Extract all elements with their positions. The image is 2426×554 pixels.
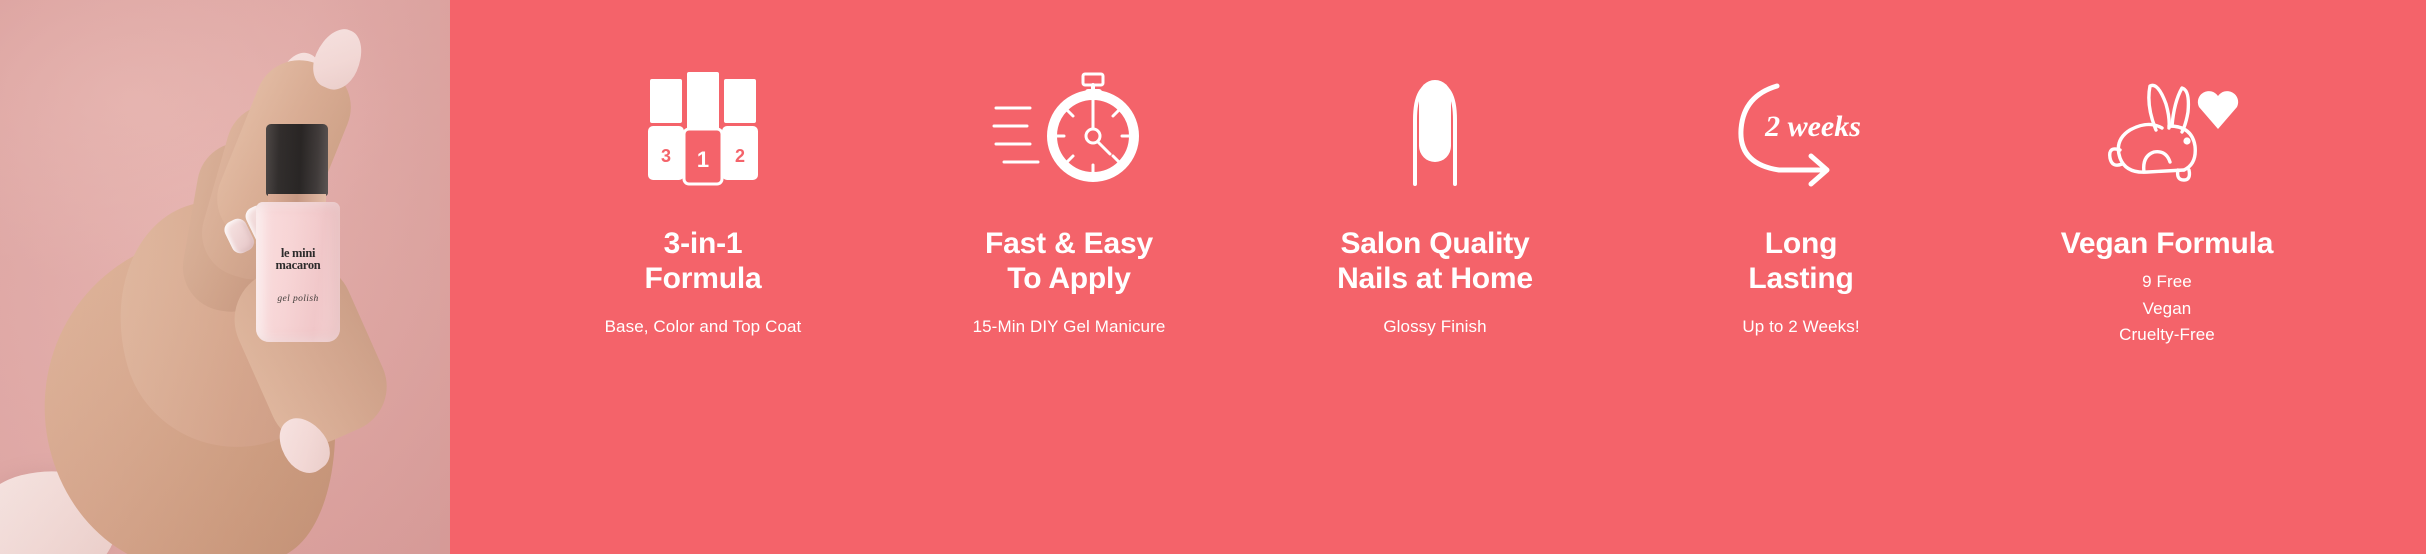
bottle-number-2: 2 [735, 146, 745, 166]
feature-salon-quality: Salon Quality Nails at Home Glossy Finis… [1252, 72, 1618, 339]
feature-vegan-formula: Vegan Formula 9 Free Vegan Cruelty-Free [1984, 72, 2350, 348]
feature-subtitle: 9 Free Vegan Cruelty-Free [2119, 269, 2215, 348]
bottle-number-3: 3 [661, 146, 671, 166]
feature-banner: le minimacaron gel polish 3 2 [0, 0, 2426, 554]
feature-subtitle: 15-Min DIY Gel Manicure [973, 315, 1166, 340]
feature-fast-and-easy: Fast & Easy To Apply 15-Min DIY Gel Mani… [886, 72, 1252, 339]
feature-subtitle: Glossy Finish [1383, 315, 1486, 340]
feature-long-lasting: 2 weeks Long Lasting Up to 2 Weeks! [1618, 72, 1984, 339]
features-panel: 3 2 1 3-in-1 Formula Base, Color and Top… [450, 0, 2426, 554]
polish-bottle: le minimacaron gel polish [248, 124, 344, 344]
bunny-heart-icon [1984, 72, 2350, 184]
bottle-brand-label: le minimacaron [256, 248, 340, 271]
three-bottles-icon: 3 2 1 [520, 72, 886, 184]
feature-title: 3-in-1 Formula [645, 226, 762, 297]
bottle-number-1: 1 [697, 147, 709, 172]
feature-subtitle: Up to 2 Weeks! [1742, 315, 1859, 340]
bottle-brand-line-2: macaron [276, 258, 321, 272]
bottle-sublabel: gel polish [256, 294, 340, 304]
feature-title: Fast & Easy To Apply [985, 226, 1153, 297]
product-photo: le minimacaron gel polish [0, 0, 450, 554]
circular-arrow-label: 2 weeks [1764, 110, 1861, 143]
feature-3-in-1-formula: 3 2 1 3-in-1 Formula Base, Color and Top… [520, 72, 886, 339]
heart-shape [2198, 91, 2238, 129]
bunny-eye [2183, 137, 2190, 144]
circular-arrow-icon: 2 weeks [1618, 72, 1984, 184]
feature-title: Long Lasting [1748, 226, 1853, 297]
nail-icon [1252, 72, 1618, 184]
feature-title: Salon Quality Nails at Home [1337, 226, 1533, 297]
feature-title: Vegan Formula [2061, 226, 2273, 261]
feature-subtitle: Base, Color and Top Coat [605, 315, 802, 340]
stopwatch-icon [886, 72, 1252, 184]
bottle-cap [266, 124, 328, 196]
bottle-body: le minimacaron gel polish [256, 202, 340, 342]
